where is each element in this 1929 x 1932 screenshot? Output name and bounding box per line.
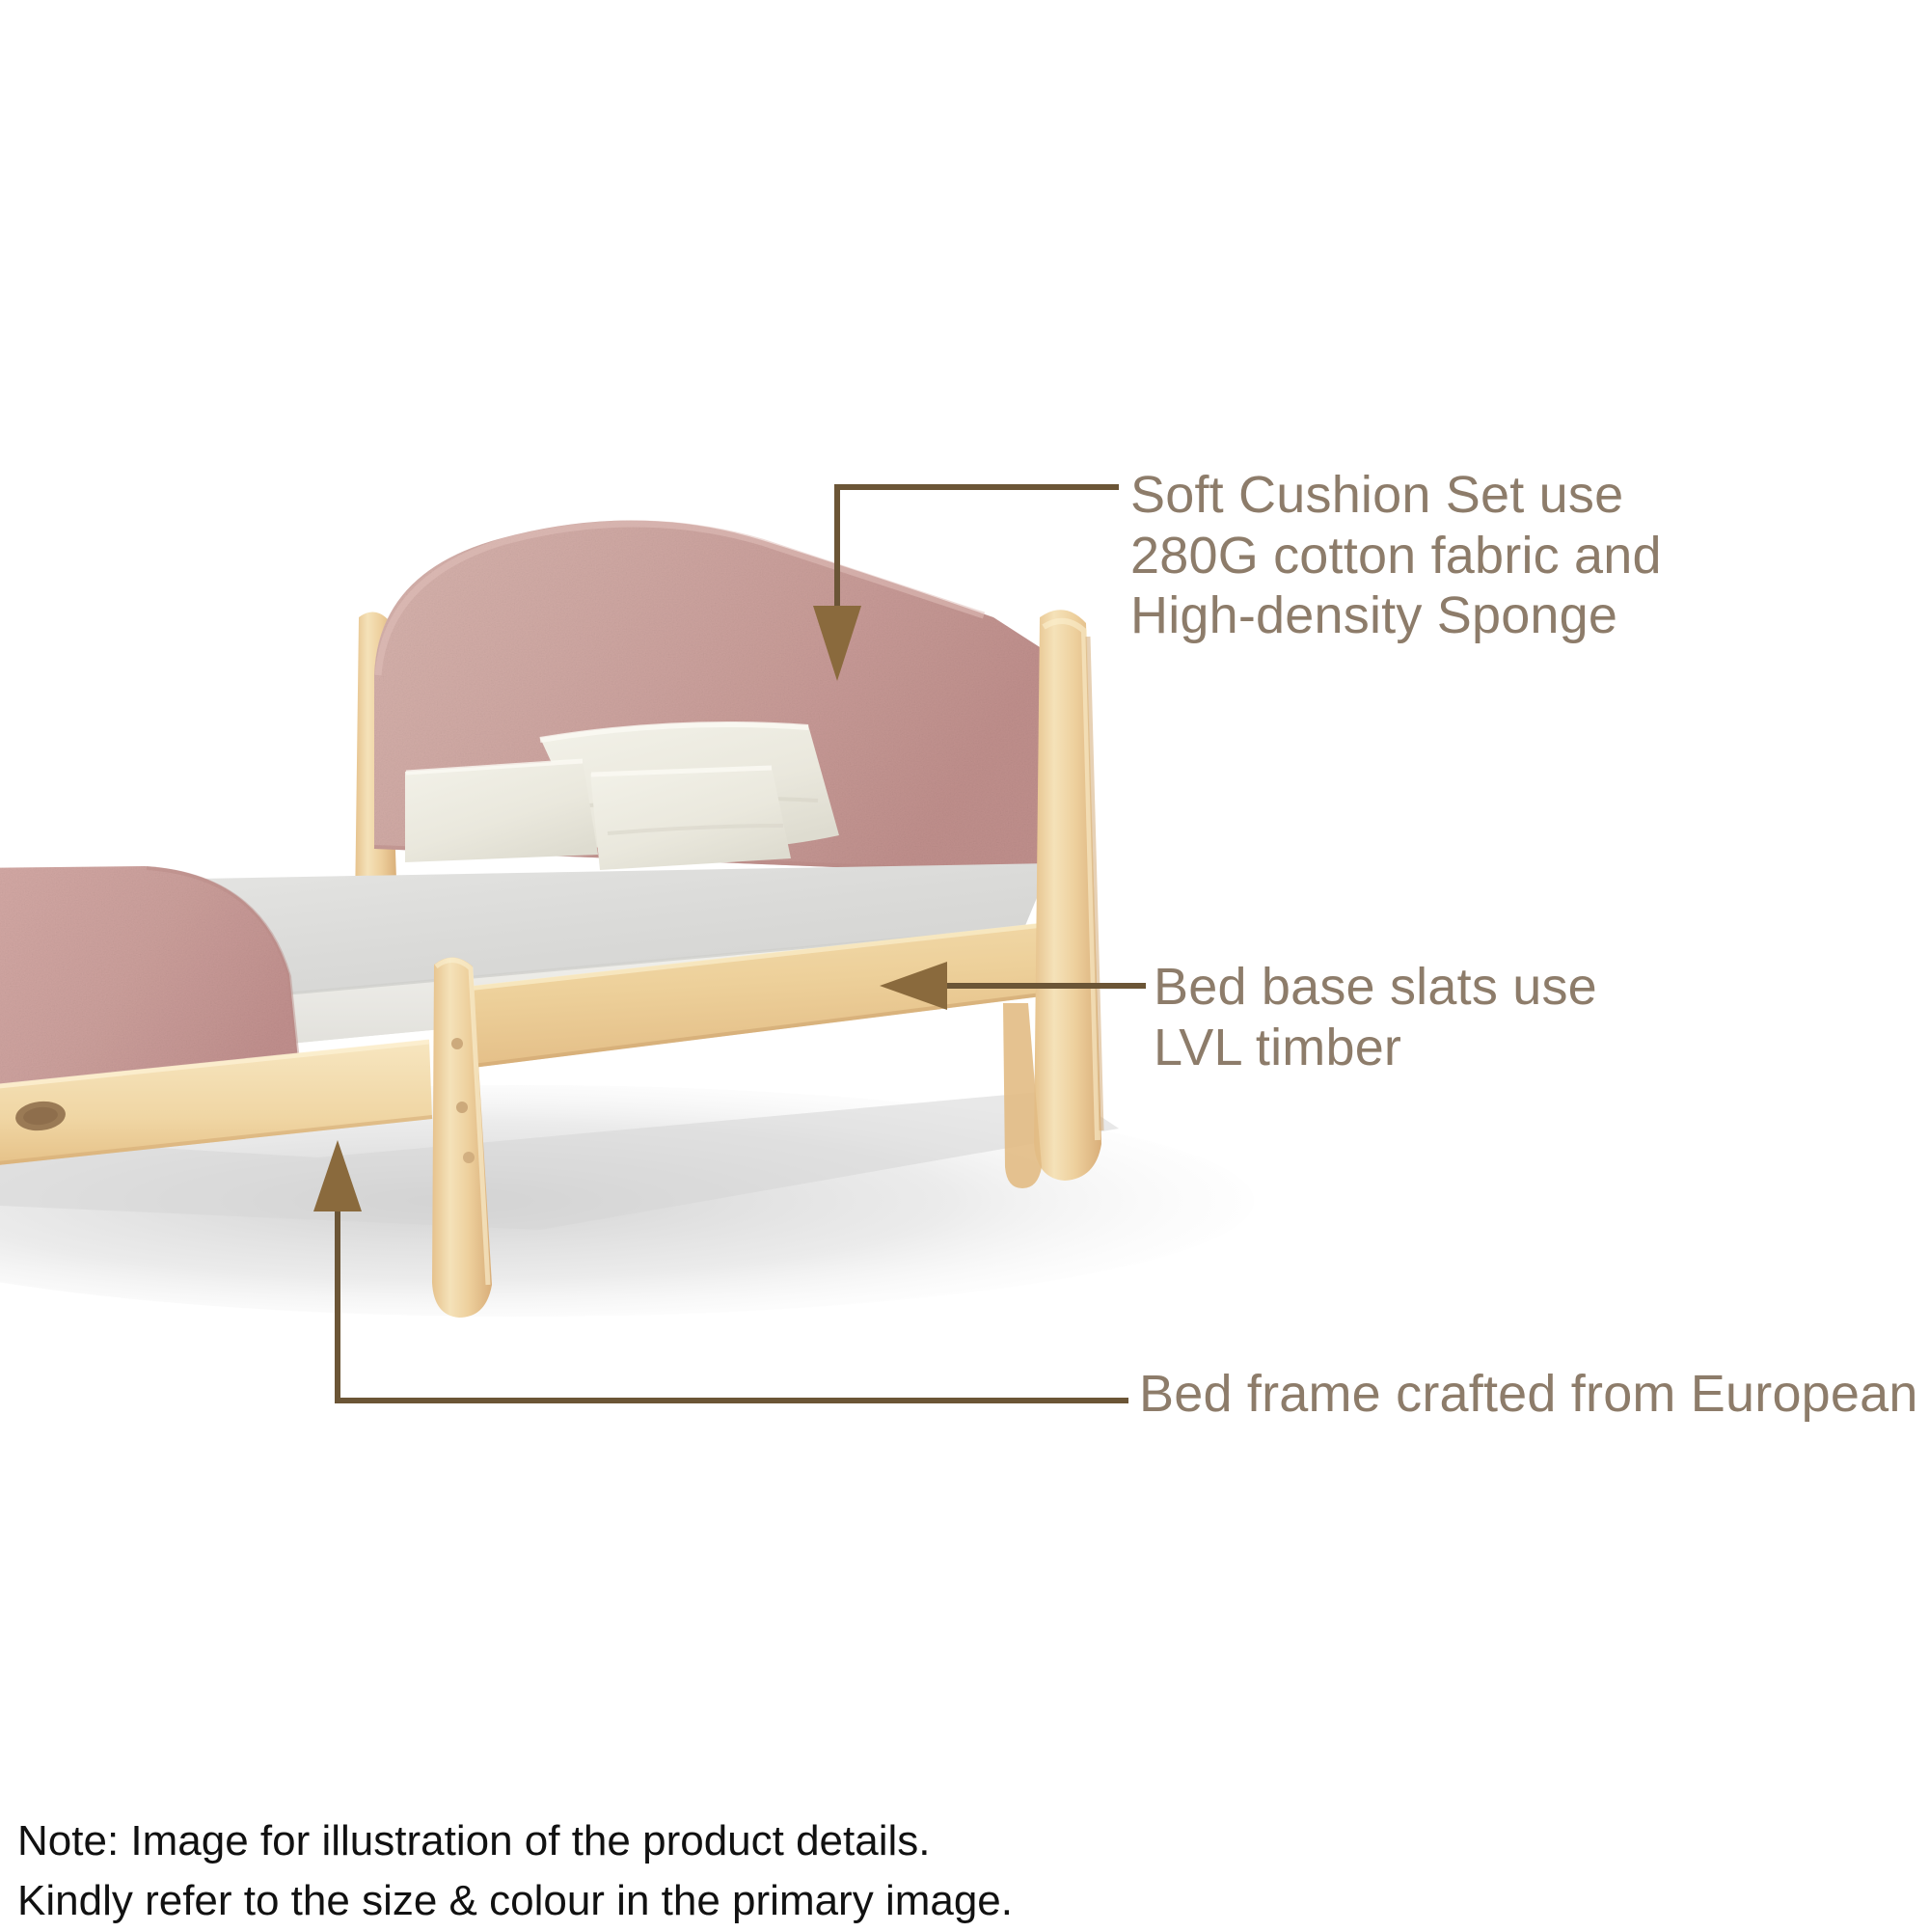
- pillow-small-left: [405, 760, 598, 862]
- callout-bed-base-slats: Bed base slats use LVL timber: [1154, 957, 1597, 1077]
- infographic-canvas: Soft Cushion Set use 280G cotton fabric …: [0, 0, 1929, 1929]
- product-illustration: [0, 0, 1929, 1543]
- bed-post-head-right: [1034, 610, 1101, 1181]
- callout-bed-frame-beech: Bed frame crafted from European beech: [1139, 1364, 1929, 1425]
- callout-soft-cushion-set: Soft Cushion Set use 280G cotton fabric …: [1130, 465, 1662, 646]
- footer-disclaimer-note: Note: Image for illustration of the prod…: [17, 1811, 1013, 1932]
- pillow-small-right: [590, 767, 791, 870]
